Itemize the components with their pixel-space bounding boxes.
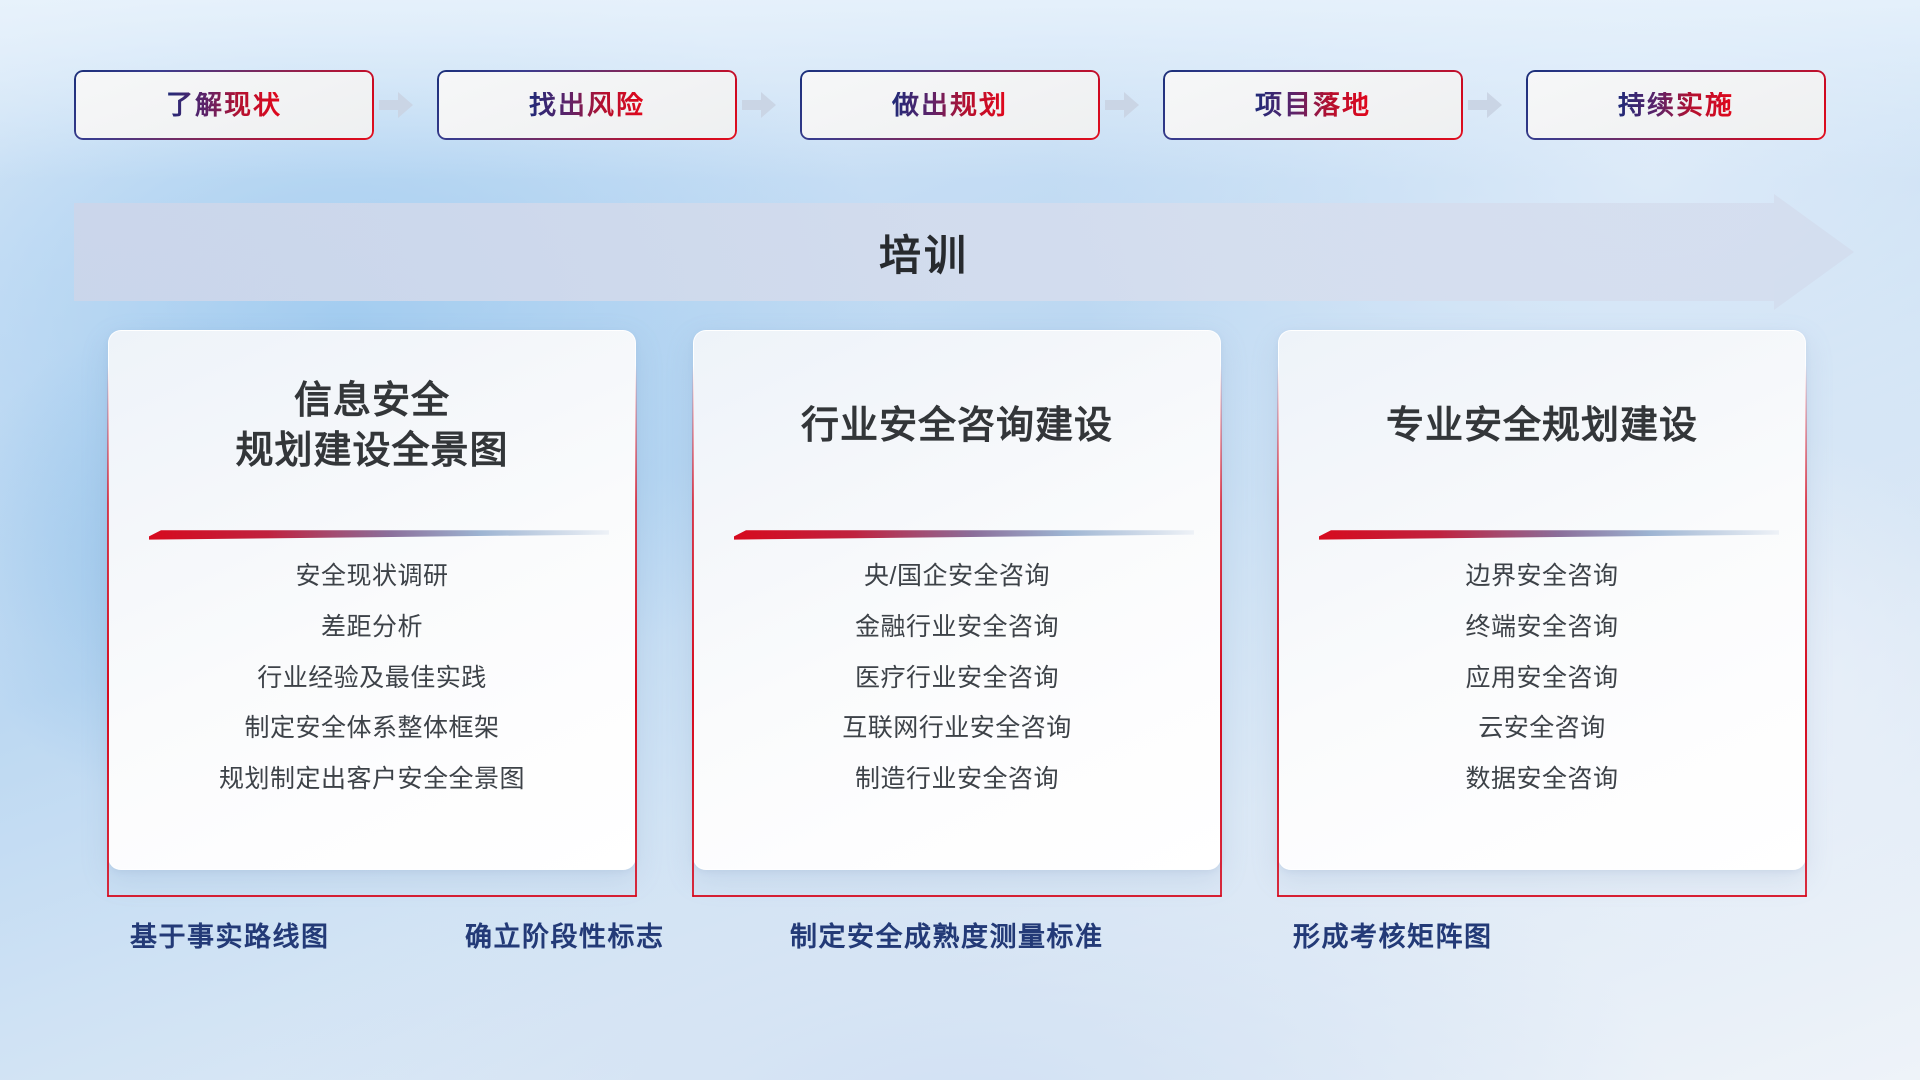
card-list-item[interactable]: 医疗行业安全咨询 [855, 659, 1059, 698]
process-step-3[interactable]: 做出规划 [800, 70, 1100, 140]
process-step-1[interactable]: 了解现状 [74, 70, 374, 140]
card-list-item[interactable]: 差距分析 [321, 608, 423, 647]
card-bottom-accent [692, 895, 1222, 897]
card-list-item[interactable]: 数据安全咨询 [1465, 760, 1618, 799]
service-card-3[interactable]: 专业安全规划建设边界安全咨询终端安全咨询应用安全咨询云安全咨询数据安全咨询 [1278, 330, 1806, 870]
right-arrow-icon [1774, 194, 1854, 310]
process-step-label: 找出风险 [529, 92, 645, 119]
service-card-1[interactable]: 信息安全规划建设全景图安全现状调研差距分析行业经验及最佳实践制定安全体系整体框架… [108, 330, 636, 870]
caption-2: 确立阶段性标志 [465, 915, 665, 954]
service-card-2[interactable]: 行业安全咨询建设央/国企安全咨询金融行业安全咨询医疗行业安全咨询互联网行业安全咨… [693, 330, 1221, 870]
process-step-label: 持续实施 [1618, 92, 1734, 119]
training-banner-title: 培训 [74, 203, 1774, 301]
card-title-line-2: 规划建设全景图 [235, 426, 508, 476]
card-list-item[interactable]: 云安全咨询 [1478, 709, 1606, 748]
step-arrow-icon [374, 70, 418, 140]
process-step-5[interactable]: 持续实施 [1526, 70, 1826, 140]
card-list-item[interactable]: 金融行业安全咨询 [855, 608, 1059, 647]
card-divider [139, 527, 609, 541]
card-item-list: 安全现状调研差距分析行业经验及最佳实践制定安全体系整体框架规划制定出客户安全全景… [109, 557, 635, 799]
process-step-label: 项目落地 [1255, 92, 1371, 119]
step-arrow-icon [1463, 70, 1507, 140]
process-step-flow: 了解现状找出风险做出规划项目落地持续实施 [0, 70, 1920, 146]
card-title-line-1: 行业安全咨询建设 [801, 401, 1113, 451]
step-arrow-icon [737, 70, 781, 140]
caption-1: 基于事实路线图 [130, 915, 330, 954]
card-title-line-1: 信息安全 [294, 376, 450, 426]
service-card-group: 信息安全规划建设全景图安全现状调研差距分析行业经验及最佳实践制定安全体系整体框架… [0, 330, 1920, 890]
card-item-list: 边界安全咨询终端安全咨询应用安全咨询云安全咨询数据安全咨询 [1279, 557, 1805, 799]
process-step-4[interactable]: 项目落地 [1163, 70, 1463, 140]
caption-4: 形成考核矩阵图 [1293, 915, 1493, 954]
card-list-item[interactable]: 行业经验及最佳实践 [257, 659, 487, 698]
card-list-item[interactable]: 边界安全咨询 [1465, 557, 1618, 596]
card-divider [1309, 527, 1779, 541]
card-title: 行业安全咨询建设 [694, 331, 1220, 521]
card-list-item[interactable]: 互联网行业安全咨询 [842, 709, 1072, 748]
card-item-list: 央/国企安全咨询金融行业安全咨询医疗行业安全咨询互联网行业安全咨询制造行业安全咨… [694, 557, 1220, 799]
process-step-2[interactable]: 找出风险 [437, 70, 737, 140]
card-list-item[interactable]: 安全现状调研 [295, 557, 448, 596]
training-banner: 培训 [74, 203, 1854, 301]
card-list-item[interactable]: 规划制定出客户安全全景图 [219, 760, 525, 799]
card-list-item[interactable]: 制定安全体系整体框架 [244, 709, 499, 748]
card-title: 信息安全规划建设全景图 [109, 331, 635, 521]
card-bottom-accent [1277, 895, 1807, 897]
card-list-item[interactable]: 应用安全咨询 [1465, 659, 1618, 698]
process-step-label: 了解现状 [166, 92, 282, 119]
card-title-line-1: 专业安全规划建设 [1386, 401, 1698, 451]
card-list-item[interactable]: 终端安全咨询 [1465, 608, 1618, 647]
caption-3: 制定安全成熟度测量标准 [790, 915, 1104, 954]
card-bottom-accent [107, 895, 637, 897]
card-list-item[interactable]: 制造行业安全咨询 [855, 760, 1059, 799]
caption-row: 基于事实路线图确立阶段性标志制定安全成熟度测量标准形成考核矩阵图 [0, 915, 1920, 975]
step-arrow-icon [1100, 70, 1144, 140]
card-divider [724, 527, 1194, 541]
card-list-item[interactable]: 央/国企安全咨询 [864, 557, 1050, 596]
process-step-label: 做出规划 [892, 92, 1008, 119]
card-title: 专业安全规划建设 [1279, 331, 1805, 521]
